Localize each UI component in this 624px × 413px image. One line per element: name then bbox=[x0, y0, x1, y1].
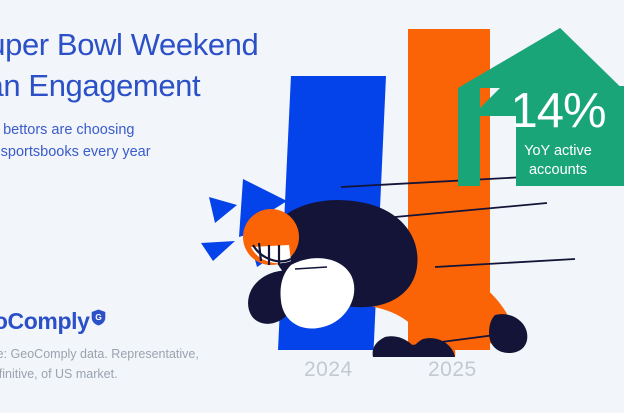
footnote-line-1: Source: GeoComply data. Representative, bbox=[0, 347, 199, 361]
subhead-line-1: More bettors are choosing bbox=[0, 122, 134, 138]
shield-icon: G bbox=[91, 309, 106, 326]
bar-label-2024: 2024 bbox=[304, 358, 353, 382]
page-title: Super Bowl Weekend Fan Engagement bbox=[0, 24, 368, 106]
headline-line-1: Super Bowl Weekend bbox=[0, 27, 258, 62]
kpi-up-arrow-badge bbox=[458, 26, 624, 186]
footnote-line-2: not definitive, of US market. bbox=[0, 367, 118, 381]
infographic-canvas: 2024 2025 Super Bowl Weekend Fan Engagem… bbox=[0, 0, 624, 413]
bar-label-2025: 2025 bbox=[428, 358, 477, 382]
football-player-illustration bbox=[195, 175, 575, 360]
subhead-line-2: legal sportsbooks every year bbox=[0, 144, 151, 160]
geocomply-logo: GeoComply G bbox=[0, 308, 106, 334]
source-footnote: Source: GeoComply data. Representative, … bbox=[0, 344, 264, 384]
page-subtitle: More bettors are choosing legal sportsbo… bbox=[0, 119, 296, 163]
svg-text:G: G bbox=[96, 312, 103, 322]
brand-wordmark: GeoComply bbox=[0, 308, 89, 334]
player-body bbox=[243, 177, 575, 357]
headline-line-2: Fan Engagement bbox=[0, 65, 368, 106]
